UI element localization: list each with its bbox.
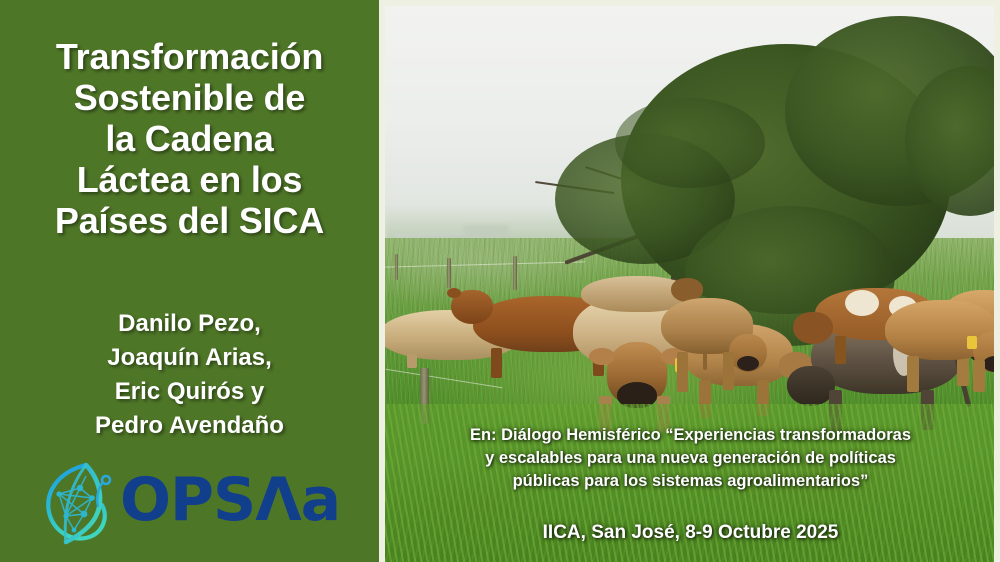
title-line-1: Transformación <box>8 36 371 77</box>
fence-post-1 <box>395 254 398 280</box>
author-line-2: Joaquín Arias, <box>8 341 371 375</box>
cow-under-tree <box>661 298 781 396</box>
tree-canopy-sparse-top <box>615 98 765 188</box>
author-line-1: Danilo Pezo, <box>8 307 371 341</box>
title-line-5: Países del SICA <box>8 200 371 241</box>
opsaa-logo: OPSΛa <box>40 458 330 550</box>
caption-line-1: En: Diálogo Hemisférico “Experiencias tr… <box>403 424 978 447</box>
cow-far-right <box>855 290 994 394</box>
fence-post-2 <box>447 258 451 288</box>
presentation-slide: En: Diálogo Hemisférico “Experiencias tr… <box>0 0 1000 562</box>
title-line-4: Láctea en los <box>8 159 371 200</box>
pasture-photo: En: Diálogo Hemisférico “Experiencias tr… <box>385 6 994 562</box>
left-green-panel: Transformación Sostenible de la Cadena L… <box>0 0 379 562</box>
photo-frame: En: Diálogo Hemisférico “Experiencias tr… <box>379 0 1000 562</box>
opsaa-leaf-network-icon <box>40 458 126 550</box>
title-line-3: la Cadena <box>8 118 371 159</box>
author-list: Danilo Pezo, Joaquín Arias, Eric Quirós … <box>8 307 371 443</box>
venue-date-line: IICA, San José, 8-9 Octubre 2025 <box>403 521 978 545</box>
title-line-2: Sostenible de <box>8 77 371 118</box>
photo-caption: En: Diálogo Hemisférico “Experiencias tr… <box>403 424 978 493</box>
author-line-3: Eric Quirós y <box>8 375 371 409</box>
caption-line-2: y escalables para una nueva generación d… <box>403 447 978 470</box>
caption-line-3: públicas para los sistemas agroalimentar… <box>403 470 978 493</box>
opsaa-wordmark: OPSΛa <box>120 470 340 530</box>
slide-title: Transformación Sostenible de la Cadena L… <box>8 36 371 241</box>
author-line-4: Pedro Avendaño <box>8 409 371 443</box>
